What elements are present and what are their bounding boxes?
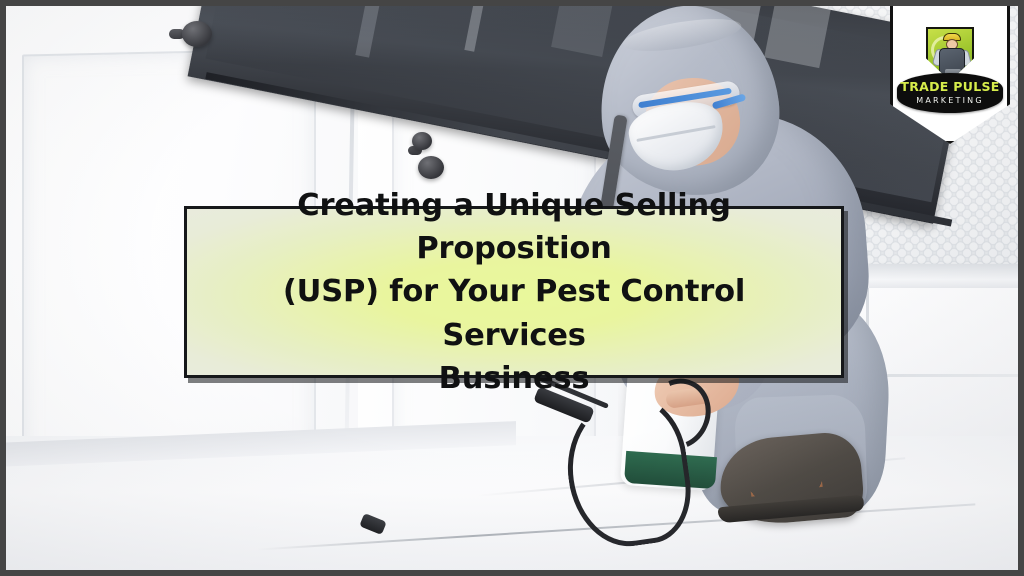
cabinet-knob-icon	[182, 21, 212, 47]
cabinet-knob-icon	[412, 132, 432, 150]
brand-name-secondary: MARKETING	[916, 97, 983, 105]
brand-name-primary: TRADE PULSE	[900, 81, 999, 94]
banner-canvas: Creating a Unique Selling Proposition (U…	[0, 0, 1024, 576]
brand-name-pill: TRADE PULSE MARKETING	[897, 73, 1003, 113]
cabinet-knob-icon	[418, 156, 444, 179]
page-title: Creating a Unique Selling Proposition (U…	[187, 184, 841, 400]
title-card: Creating a Unique Selling Proposition (U…	[184, 206, 844, 378]
